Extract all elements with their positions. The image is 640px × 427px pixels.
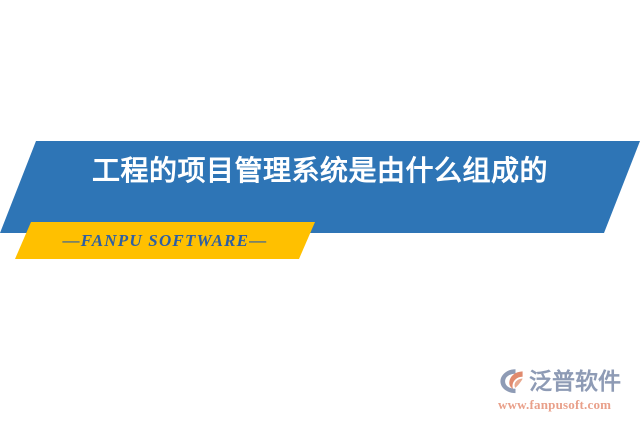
slide-canvas: 工程的项目管理系统是由什么组成的 —FANPU SOFTWARE— 泛普软件 w… — [0, 0, 640, 427]
blue-title-banner — [0, 141, 640, 233]
yellow-subtitle-ribbon — [15, 222, 315, 259]
brand-logo-row: 泛普软件 — [498, 366, 632, 396]
fanpu-logo-icon — [498, 367, 526, 395]
brand-logo: 泛普软件 www.fanpusoft.com — [498, 366, 632, 418]
brand-name: 泛普软件 — [529, 370, 621, 393]
brand-website: www.fanpusoft.com — [498, 397, 632, 413]
